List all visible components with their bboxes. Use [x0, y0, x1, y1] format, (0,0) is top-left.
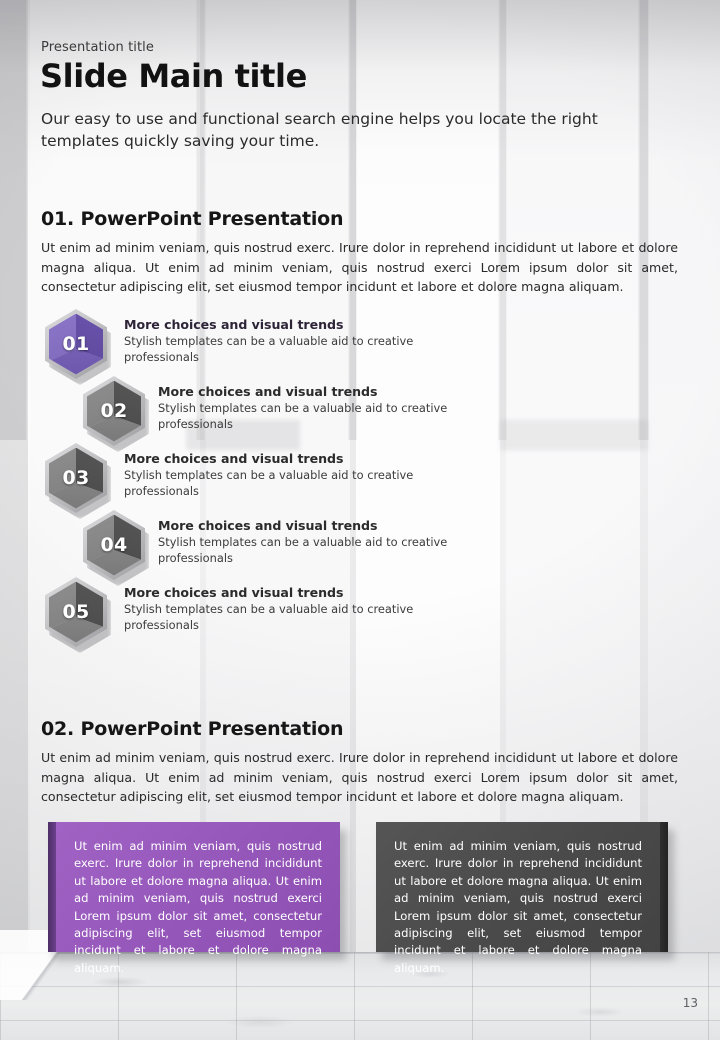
list-item-text: More choices and visual trends Stylish t… [158, 518, 458, 566]
hexagon-number: 03 [45, 443, 107, 513]
list-item-subtext: Stylish templates can be a valuable aid … [158, 535, 458, 566]
hexagon-step-list: 01 More choices and visual trends Stylis… [0, 309, 720, 649]
list-item-heading: More choices and visual trends [158, 518, 458, 533]
list-item-subtext: Stylish templates can be a valuable aid … [124, 334, 424, 365]
list-item-text: More choices and visual trends Stylish t… [158, 384, 458, 432]
hexagon-badge-05[interactable]: 05 [45, 577, 107, 647]
slide-content: Presentation title Slide Main title Our … [0, 0, 720, 1040]
hexagon-number: 01 [45, 309, 107, 379]
list-item-text: More choices and visual trends Stylish t… [124, 317, 424, 365]
list-item-text: More choices and visual trends Stylish t… [124, 585, 424, 633]
section-1-title: 01. PowerPoint Presentation [41, 208, 343, 230]
hexagon-number: 04 [83, 510, 145, 580]
hexagon-badge-02[interactable]: 02 [83, 376, 145, 446]
list-item-text: More choices and visual trends Stylish t… [124, 451, 424, 499]
list-item-heading: More choices and visual trends [158, 384, 458, 399]
hexagon-number: 05 [45, 577, 107, 647]
list-item-heading: More choices and visual trends [124, 317, 424, 332]
list-item-heading: More choices and visual trends [124, 451, 424, 466]
hexagon-badge-04[interactable]: 04 [83, 510, 145, 580]
list-item-subtext: Stylish templates can be a valuable aid … [124, 468, 424, 499]
card-bevel-left [48, 822, 56, 952]
card-text: Ut enim ad minim veniam, quis nostrud ex… [394, 838, 642, 977]
page-subtitle: Our easy to use and functional search en… [41, 108, 616, 152]
slide: Presentation title Slide Main title Our … [0, 0, 720, 1040]
card-face: Ut enim ad minim veniam, quis nostrud ex… [56, 822, 340, 952]
page-number: 13 [683, 996, 698, 1010]
list-item-subtext: Stylish templates can be a valuable aid … [124, 602, 424, 633]
callout-card-purple[interactable]: Ut enim ad minim veniam, quis nostrud ex… [48, 822, 340, 952]
list-item-heading: More choices and visual trends [124, 585, 424, 600]
section-2-body: Ut enim ad minim veniam, quis nostrud ex… [41, 748, 678, 807]
callout-card-dark[interactable]: Ut enim ad minim veniam, quis nostrud ex… [376, 822, 668, 952]
card-text: Ut enim ad minim veniam, quis nostrud ex… [74, 838, 322, 977]
card-face: Ut enim ad minim veniam, quis nostrud ex… [376, 822, 660, 952]
hexagon-number: 02 [83, 376, 145, 446]
hexagon-badge-03[interactable]: 03 [45, 443, 107, 513]
presentation-title-label: Presentation title [41, 40, 154, 55]
section-1-body: Ut enim ad minim veniam, quis nostrud ex… [41, 238, 678, 297]
section-2-title: 02. PowerPoint Presentation [41, 718, 343, 740]
card-bevel-right [660, 822, 668, 952]
list-item-subtext: Stylish templates can be a valuable aid … [158, 401, 458, 432]
hexagon-badge-01[interactable]: 01 [45, 309, 107, 379]
page-title: Slide Main title [40, 57, 307, 95]
